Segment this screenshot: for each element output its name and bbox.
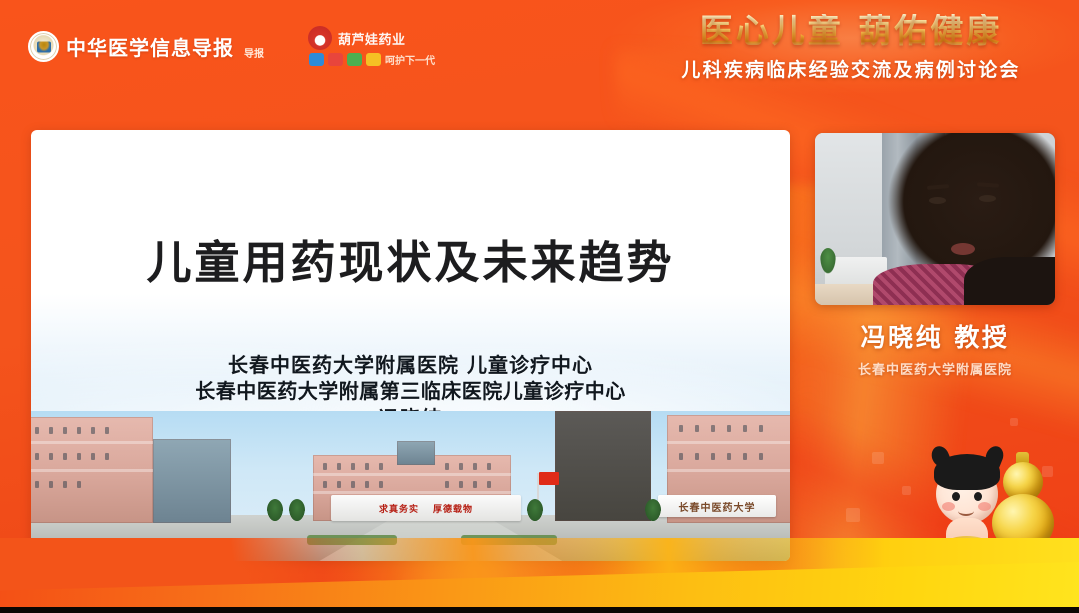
cam-mouth — [951, 243, 975, 255]
gourd-drop-icon — [308, 26, 332, 50]
bottom-letterbox — [0, 607, 1079, 613]
slide-subtitle-line-1: 长春中医药大学附属医院 儿童诊疗中心 — [31, 352, 790, 378]
mascot-child-icon — [928, 448, 1014, 572]
chip-red-icon — [328, 53, 343, 66]
header-logo-row: 中华医学信息导报 导报 葫芦娃药业 呵护下一代 — [28, 26, 435, 67]
speaker-caption: 冯晓纯 教授 长春中医药大学附属医院 — [815, 318, 1055, 378]
logo-sponsor: 葫芦娃药业 呵护下一代 — [308, 26, 435, 67]
presentation-slide[interactable]: 儿童用药现状及未来趋势 长春中医药大学附属医院 儿童诊疗中心 长春中医药大学附属… — [31, 130, 790, 561]
campus-photo: 求真务实 厚德载物 长春中医药大学 — [31, 411, 790, 561]
logo-sponsor-tagline: 呵护下一代 — [385, 52, 435, 67]
broadcast-stage: 中华医学信息导报 导报 葫芦娃药业 呵护下一代 医心儿童 葫佑健康 儿科疾病临床… — [0, 0, 1079, 613]
event-banner-subtitle: 儿科疾病临床经验交流及病例讨论会 — [641, 55, 1061, 82]
logo-herald-name: 中华医学信息导报 — [66, 32, 234, 61]
logo-herald-suffix: 导报 — [244, 45, 264, 62]
cam-eye-right — [979, 195, 996, 202]
slide-title: 儿童用药现状及未来趋势 — [31, 226, 790, 291]
cam-participant-shoulder — [964, 257, 1055, 305]
chip-green-icon — [347, 53, 362, 66]
campus-flag — [539, 472, 559, 485]
campus-lawn-right — [461, 535, 557, 545]
campus-building-left-glass — [153, 439, 231, 523]
campus-gate-sign: 求真务实 厚德载物 — [331, 495, 521, 521]
chip-yellow-icon — [366, 53, 381, 66]
cma-emblem-icon — [28, 31, 59, 62]
event-banner-title: 医心儿童 葫佑健康 — [641, 14, 1061, 49]
campus-tree-2 — [289, 499, 305, 521]
campus-tree-1 — [267, 499, 283, 521]
campus-lawn-left — [307, 535, 397, 545]
logo-chinese-medical-herald: 中华医学信息导报 导报 — [28, 31, 264, 62]
speaker-organization: 长春中医药大学附属医院 — [815, 359, 1055, 378]
gourd-boy-mascot — [920, 440, 1060, 580]
slide-subtitle-line-2: 长春中医药大学附属第三临床医院儿童诊疗中心 — [31, 378, 790, 404]
logo-sponsor-name: 葫芦娃药业 — [338, 29, 406, 48]
speaker-name: 冯晓纯 教授 — [815, 318, 1055, 354]
cam-plant — [820, 248, 836, 274]
logo-sponsor-top: 葫芦娃药业 — [308, 26, 435, 50]
campus-building-left — [31, 417, 153, 523]
cam-eye-left — [929, 197, 946, 204]
chip-blue-icon — [309, 53, 324, 66]
university-sign-text: 长春中医药大学 — [679, 499, 756, 514]
campus-tree-3 — [527, 499, 543, 521]
gate-motto-left: 求真务实 — [379, 502, 419, 515]
event-banner: 医心儿童 葫佑健康 儿科疾病临床经验交流及病例讨论会 — [641, 14, 1061, 82]
logo-sponsor-bottom: 呵护下一代 — [308, 52, 435, 67]
gate-motto-right: 厚德载物 — [433, 502, 473, 515]
campus-university-sign: 长春中医药大学 — [658, 495, 776, 517]
campus-building-center-glass — [397, 441, 435, 465]
speaker-video-feed[interactable] — [815, 133, 1055, 305]
campus-tree-4 — [645, 499, 661, 521]
campus-building-dark — [555, 411, 651, 521]
